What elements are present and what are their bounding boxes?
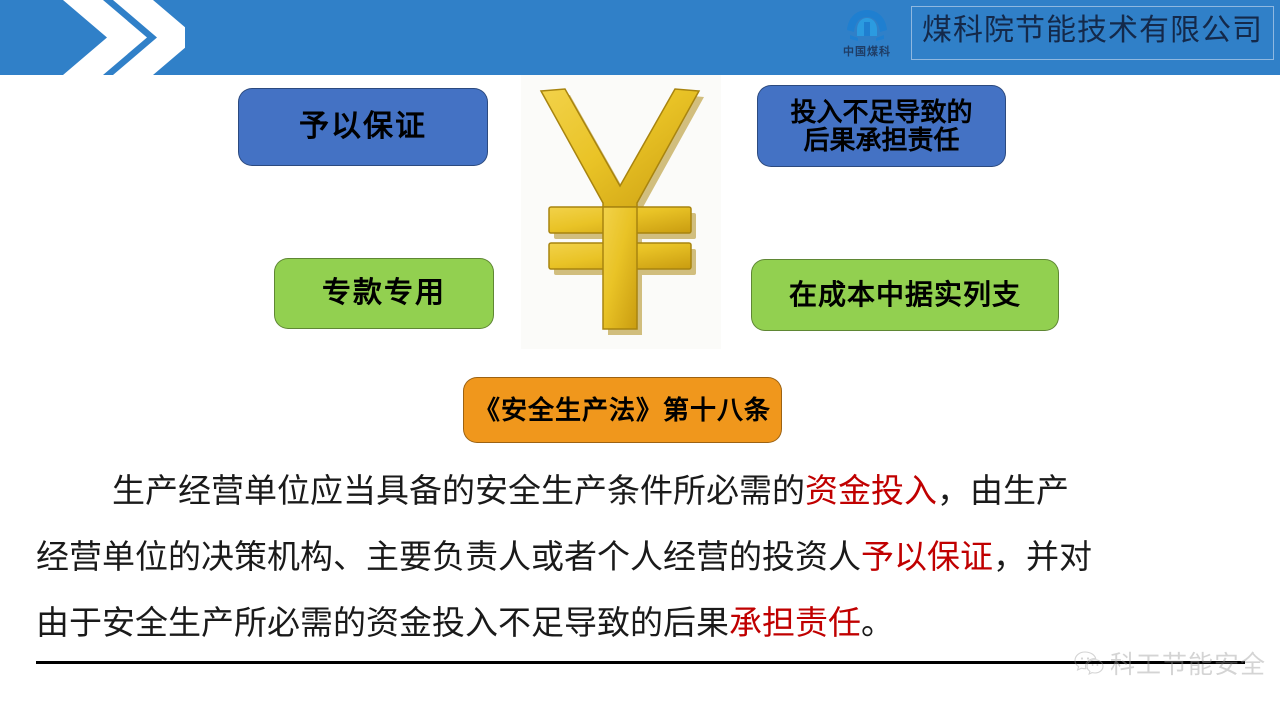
logo-caption: 中国煤科	[843, 43, 891, 59]
highlight-segment: 承担责任	[729, 604, 861, 641]
watermark: 科工节能安全	[1074, 645, 1266, 681]
callout-law-article[interactable]: 《安全生产法》第十八条	[463, 377, 782, 443]
watermark-text: 科工节能安全	[1110, 645, 1266, 681]
text-segment: 。	[861, 604, 894, 641]
china-coal-logo: 中国煤科	[831, 8, 903, 59]
wechat-icon	[1074, 650, 1104, 676]
paragraph-line-3: 由于安全生产所必需的资金投入不足导致的后果承担责任。	[36, 590, 1246, 656]
callout-dedicated-funds[interactable]: 专款专用	[274, 258, 494, 329]
callout-cost-accounting[interactable]: 在成本中据实列支	[751, 259, 1059, 331]
text-segment: ，由生产	[937, 472, 1069, 509]
yen-currency-image	[521, 75, 721, 349]
header-bar: 中国煤科 煤科院节能技术有限公司	[0, 0, 1280, 75]
double-chevron-right-icon	[55, 0, 185, 75]
yen-currency-symbol-icon	[521, 75, 721, 349]
text-segment: 经营单位的决策机构、主要负责人或者个人经营的投资人	[36, 538, 861, 575]
brand-block: 中国煤科 煤科院节能技术有限公司	[831, 6, 1274, 60]
text-segment: ，并对	[993, 538, 1092, 575]
company-name: 煤科院节能技术有限公司	[922, 16, 1263, 46]
paragraph-line-1: 生产经营单位应当具备的安全生产条件所必需的资金投入，由生产	[36, 458, 1246, 524]
china-coal-logo-icon	[844, 8, 890, 42]
text-segment: 由于安全生产所必需的资金投入不足导致的后果	[36, 604, 729, 641]
text-segment: 生产经营单位应当具备的安全生产条件所必需的	[112, 472, 805, 509]
callout-liability[interactable]: 投入不足导致的 后果承担责任	[757, 85, 1006, 167]
highlight-segment: 资金投入	[805, 472, 937, 509]
paragraph-line-2: 经营单位的决策机构、主要负责人或者个人经营的投资人予以保证，并对	[36, 524, 1246, 590]
company-name-box: 煤科院节能技术有限公司	[911, 6, 1274, 60]
footer-divider	[36, 661, 1245, 664]
body-paragraph: 生产经营单位应当具备的安全生产条件所必需的资金投入，由生产 经营单位的决策机构、…	[36, 458, 1246, 656]
highlight-segment: 予以保证	[861, 538, 993, 575]
callout-guarantee[interactable]: 予以保证	[238, 88, 488, 166]
